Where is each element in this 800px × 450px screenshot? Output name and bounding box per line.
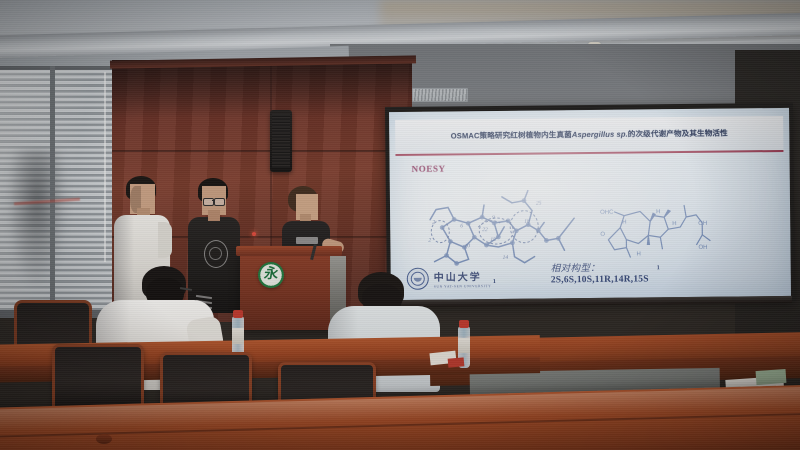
- slide-title-prefix: OSMAC策略研究红树植物内生真菌: [451, 130, 572, 140]
- molecule-2d-structure: OHC O H H H OH OH H: [598, 189, 719, 264]
- presenter-2-glasses-bridge: [212, 200, 215, 201]
- svg-text:2: 2: [432, 220, 435, 226]
- presenter-2-neck: [208, 210, 220, 221]
- water-bottle-cap: [233, 310, 243, 318]
- water-bottle-label: [232, 328, 244, 344]
- water-bottle-label: [458, 338, 470, 353]
- silhouette-behind-blinds: [6, 150, 68, 290]
- podium: [240, 252, 336, 330]
- svg-text:OHC: OHC: [600, 210, 614, 216]
- podium-emblem-mark: 永: [263, 268, 279, 282]
- university-seal-icon: [407, 268, 429, 290]
- svg-text:2: 2: [428, 238, 431, 244]
- presenter-3-shirt-logo: [296, 237, 318, 244]
- svg-text:H: H: [622, 220, 626, 226]
- slide-title-latin: Aspergillus sp.: [572, 129, 628, 139]
- svg-text:25: 25: [536, 201, 542, 207]
- svg-text:10: 10: [464, 243, 470, 249]
- blind-cord[interactable]: [104, 72, 106, 262]
- svg-text:H: H: [637, 251, 641, 257]
- stereo-label: 相对构型：: [551, 259, 731, 275]
- presenter-1-body-shadow: [114, 215, 134, 303]
- svg-text:H: H: [672, 221, 676, 227]
- university-name: 中山大学: [434, 268, 492, 284]
- university-logo: 中山大学 SUN YAT-SEN UNIVERSITY: [407, 267, 492, 290]
- presentation-room-photo: OSMAC策略研究红树植物内生真菌Aspergillus sp.的次级代谢产物及…: [0, 0, 800, 450]
- svg-text:H: H: [656, 209, 660, 215]
- podium-top-surface: [236, 246, 342, 256]
- svg-text:22: 22: [482, 227, 488, 233]
- red-booklet[interactable]: [448, 357, 465, 367]
- svg-text:OH: OH: [698, 221, 707, 227]
- svg-text:6: 6: [460, 223, 463, 229]
- podium-emblem-icon: 永: [258, 262, 284, 288]
- slide-title-band: OSMAC策略研究红树植物内生真菌Aspergillus sp.的次级代谢产物及…: [395, 116, 783, 156]
- air-vent-icon: [412, 88, 468, 102]
- green-folder[interactable]: [756, 369, 787, 385]
- svg-text:18: 18: [524, 219, 530, 225]
- svg-text:9: 9: [492, 215, 495, 221]
- university-subtitle: SUN YAT-SEN UNIVERSITY: [434, 284, 492, 289]
- water-bottle-cap: [459, 320, 469, 328]
- slide-section-label: NOESY: [412, 164, 446, 174]
- compound-label-left: 1: [493, 279, 496, 285]
- speaker-grille: [272, 114, 290, 168]
- projector-screen[interactable]: OSMAC策略研究红树植物内生真菌Aspergillus sp.的次级代谢产物及…: [389, 108, 791, 300]
- svg-text:OH: OH: [698, 245, 707, 251]
- seal-inner-ring: [411, 272, 425, 286]
- desk-knob[interactable]: [96, 434, 112, 444]
- svg-text:O: O: [600, 232, 605, 238]
- slide-title: OSMAC策略研究红树植物内生真菌Aspergillus sp.的次级代谢产物及…: [445, 128, 734, 141]
- presenter-1-sleeve: [158, 222, 172, 258]
- presenter-2-glasses-right-lens: [214, 198, 225, 206]
- stereochemistry-block: 相对构型： 2S,6S,10S,11R,14R,15S: [551, 259, 731, 286]
- window-mullion: [50, 66, 55, 318]
- presenter-2-shirt-print-inner: [209, 247, 222, 260]
- chair[interactable]: [52, 344, 144, 412]
- svg-text:15: 15: [490, 237, 496, 243]
- indicator-led-icon: [252, 232, 256, 236]
- wood-panel-seam: [112, 150, 412, 152]
- svg-text:14: 14: [503, 254, 509, 261]
- stereo-value: 2S,6S,10S,11R,14R,15S: [551, 274, 731, 286]
- university-name-block: 中山大学 SUN YAT-SEN UNIVERSITY: [434, 268, 492, 289]
- wood-wall-shadow: [112, 60, 412, 118]
- slide-title-suffix: 的次级代谢产物及其生物活性: [628, 128, 728, 138]
